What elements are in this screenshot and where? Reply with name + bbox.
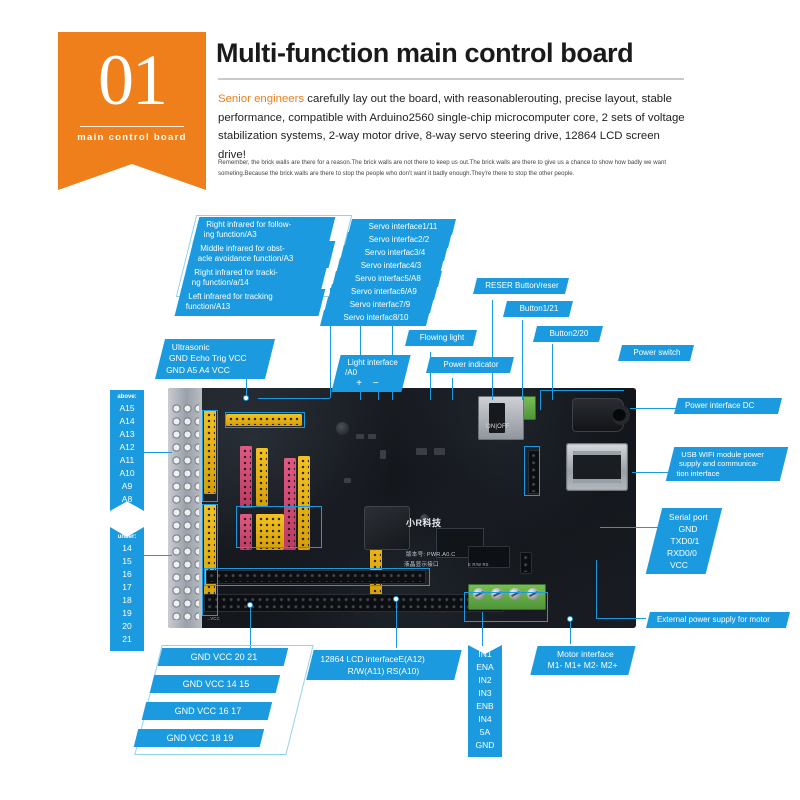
section-subtitle: main control board	[58, 132, 206, 143]
ultrasonic-line2: GND Echo Trig VCC	[169, 353, 263, 365]
leader-extpower-v	[596, 560, 597, 618]
pin-list-under-header: under:	[114, 533, 140, 542]
leader-motor	[570, 622, 571, 644]
pin-above-5: A10	[114, 467, 140, 480]
dc-power-jack	[572, 398, 624, 432]
servo-label-1: Servo interface1/11	[359, 222, 447, 233]
callout-light-interface[interactable]: Light interface /A0 + −	[331, 355, 410, 392]
pin-list-under: under: 14 15 16 17 18 19 20 21	[110, 527, 144, 651]
lcd-line2: R/W(A11) RS(A10)	[318, 665, 450, 677]
leader-button2	[552, 344, 553, 400]
serial-pin-2: RXD0/0	[660, 547, 704, 559]
callout-flowing-light[interactable]: Flowing light	[405, 330, 477, 346]
leader-power-switch-h	[540, 390, 624, 391]
ribbon-divider	[80, 126, 184, 127]
leader-button1	[522, 320, 523, 400]
section-number: 01	[58, 40, 206, 120]
callout-gnd-vcc-18-19[interactable]: GND VCC 18 19	[134, 729, 264, 747]
pin-above-4: A11	[114, 454, 140, 467]
callout-button1[interactable]: Button1/21	[503, 301, 573, 317]
gnd-vcc-label-1: GND VCC 14 15	[161, 678, 271, 690]
leader-dot-motor	[567, 616, 573, 622]
pin-above-6: A9	[114, 480, 140, 493]
pin-under-1: 15	[114, 555, 140, 568]
pin-under-2: 16	[114, 568, 140, 581]
callout-right-infrared-tracking[interactable]: Right infrared for tracki- ng function/a…	[181, 265, 328, 292]
button2-label: Button2/20	[544, 329, 594, 340]
usb-a-port	[566, 443, 628, 491]
silkscreen-vcc: →VCC	[206, 616, 220, 621]
ir0-line2: ing function/A3	[204, 230, 324, 241]
lead-highlight: Senior engineers	[218, 93, 304, 105]
ir1-line2: acle avoidance function/A3	[198, 254, 324, 265]
leader-lcd	[396, 600, 397, 648]
callout-motor-interface[interactable]: Motor interface M1- M1+ M2- M2+	[530, 646, 635, 675]
regulator-module	[364, 506, 410, 550]
external-power-label: External power supply for motor	[657, 615, 781, 626]
highlight-servo-block	[236, 506, 322, 548]
light-line1: Light interface	[348, 358, 402, 369]
pin-under-4: 18	[114, 594, 140, 607]
callout-ultrasonic[interactable]: Ultrasonic GND Echo Trig VCC GND A5 A4 V…	[155, 339, 275, 379]
callout-external-power[interactable]: External power supply for motor	[646, 612, 790, 628]
pin-header-yellow-1	[256, 448, 268, 506]
motor-pin-6: 5A	[472, 726, 498, 739]
pin-under-0: 14	[114, 542, 140, 555]
servo-label-2: Servo interfac2/2	[355, 235, 443, 246]
reset-button-label: RESER Button/reser	[484, 281, 560, 292]
leader-dot-gndvcc	[247, 602, 253, 608]
highlight-top-header	[225, 412, 305, 428]
silkscreen-version: 版本号: PWR.A0.C	[406, 550, 456, 558]
callout-left-infrared-tracking[interactable]: Left infrared for tracking function/A13	[175, 289, 326, 316]
callout-power-interface-dc[interactable]: Power interface DC	[674, 398, 782, 414]
highlight-serial-header	[524, 446, 540, 496]
title-divider	[218, 78, 684, 80]
section-number-ribbon: 01 main control board	[58, 32, 206, 164]
serial-pin-0: GND	[666, 523, 710, 535]
ir3-line2: function/A13	[186, 302, 314, 313]
light-line2: /A0	[345, 368, 399, 379]
motor-pin-2: IN2	[472, 674, 498, 687]
pin-under-6: 20	[114, 620, 140, 633]
ir3-line1: Left infrared for tracking	[188, 292, 316, 303]
motor-line1: Motor interface	[544, 649, 626, 661]
servo-label-6: Servo interfac6/A9	[339, 287, 429, 298]
highlight-digital-bank	[202, 504, 218, 616]
pin-above-1: A14	[114, 415, 140, 428]
pin-above-2: A13	[114, 428, 140, 441]
gnd-vcc-label-2: GND VCC 16 17	[153, 705, 263, 717]
pin-header-pink-1	[240, 446, 252, 508]
motor-pin-5: IN4	[472, 713, 498, 726]
pin-list-above-header: above:	[114, 393, 140, 402]
silkscreen-lcd-pins: E R/W RS	[468, 562, 489, 567]
highlight-motor-terminal	[464, 592, 548, 622]
serial-title: Serial port	[669, 511, 713, 523]
page-header: 01 main control board Multi-function mai…	[0, 0, 800, 210]
lcd-line1: 12864 LCD interfaceE(A12)	[321, 653, 453, 665]
callout-servo-8[interactable]: Servo interfac8/10	[320, 310, 430, 326]
servo-label-4: Servo interfac4/3	[347, 261, 435, 272]
power-switch-label: Power switch	[629, 348, 685, 359]
ir2-line2: ng function/a/14	[192, 278, 316, 289]
flowing-light-label: Flowing light	[416, 333, 468, 344]
highlight-a-bank	[202, 410, 218, 502]
callout-middle-infrared-obstacle[interactable]: Middle infrared for obst- acle avoidance…	[187, 241, 336, 268]
board-brand-logo: 小R科技	[406, 516, 442, 529]
leader-dc	[630, 408, 678, 409]
servo-label-5: Servo interfac5/A8	[343, 274, 433, 285]
gnd-vcc-label-0: GND VCC 20 21	[169, 651, 279, 663]
motor-pin-0: IN1	[472, 648, 498, 661]
motor-pin-1: ENA	[472, 661, 498, 674]
pin-list-above: above: A15 A14 A13 A12 A11 A10 A9 A8	[110, 390, 144, 511]
leader-under-pins	[140, 555, 172, 556]
callout-usb-wifi[interactable]: USB WIFI module power supply and communi…	[666, 447, 788, 481]
leader-dot-ultrasonic	[243, 395, 249, 401]
serial-pin-3: VCC	[657, 559, 701, 571]
pin-list-motor-driver: IN1 ENA IN2 IN3 ENB IN4 5A GND	[468, 645, 502, 757]
pin-above-3: A12	[114, 441, 140, 454]
pin-above-7: A8	[114, 493, 140, 506]
callout-lcd-interface[interactable]: 12864 LCD interfaceE(A12) R/W(A11) RS(A1…	[306, 650, 461, 680]
pin-under-5: 19	[114, 607, 140, 620]
callout-gnd-vcc-16-17[interactable]: GND VCC 16 17	[142, 702, 272, 720]
leader-extpower	[596, 618, 646, 619]
silkscreen-onoff: ON|OFF	[486, 424, 510, 430]
motor-line2: M1- M1+ M2- M2+	[542, 660, 624, 672]
ir0-line1: Right infrared for follow-	[206, 220, 326, 231]
light-line3: + −	[342, 379, 396, 390]
highlight-lcd-header	[204, 568, 430, 586]
callout-button2[interactable]: Button2/20	[533, 326, 603, 342]
gnd-vcc-label-3: GND VCC 18 19	[145, 732, 255, 744]
leader-serial	[600, 527, 660, 528]
perforation-holes	[171, 402, 199, 620]
pin-under-7: 21	[114, 633, 140, 646]
callout-power-switch[interactable]: Power switch	[618, 345, 694, 361]
callout-power-indicator[interactable]: Power indicator	[426, 357, 514, 373]
power-switch-component	[478, 396, 524, 440]
pin-above-0: A15	[114, 402, 140, 415]
servo-label-7: Servo interfac7/9	[335, 300, 425, 311]
ir2-line1: Right infrared for tracki-	[194, 268, 318, 279]
page-title: Multi-function main control board	[216, 38, 633, 69]
callout-gnd-vcc-14-15[interactable]: GND VCC 14 15	[150, 675, 280, 693]
leader-usb	[632, 472, 672, 473]
motor-pin-7: GND	[472, 739, 498, 752]
board-left-shield	[168, 388, 202, 628]
usb-line3: tion interface	[677, 469, 775, 479]
power-indicator-label: Power indicator	[437, 360, 505, 371]
external-power-header	[520, 552, 532, 574]
ultrasonic-line3: GND A5 A4 VCC	[166, 365, 260, 377]
leader-power-indicator	[452, 378, 453, 400]
leader-infrared-h	[258, 398, 330, 399]
leader-power-switch-v	[540, 390, 541, 410]
pin-under-3: 17	[114, 581, 140, 594]
motor-pin-4: ENB	[472, 700, 498, 713]
serial-pin-1: TXD0/1	[663, 535, 707, 547]
motor-pin-3: IN3	[472, 687, 498, 700]
callout-gnd-vcc-20-21[interactable]: GND VCC 20 21	[158, 648, 288, 666]
dc-label: Power interface DC	[685, 401, 773, 412]
leader-reset	[492, 300, 493, 400]
callout-serial-port[interactable]: Serial port GND TXD0/1 RXD0/0 VCC	[646, 508, 722, 574]
fine-print-paragraph: Remember, the brick walls are there for …	[218, 158, 688, 179]
usb-line1: USB WIFI module power	[681, 450, 779, 460]
leader-dot-lcd	[393, 596, 399, 602]
callout-right-infrared-following[interactable]: Right infrared for follow- ing function/…	[193, 217, 336, 244]
servo-label-8: Servo interfac8/10	[331, 313, 421, 324]
callout-reset-button[interactable]: RESER Button/reser	[473, 278, 569, 294]
leader-above-pins	[140, 452, 172, 453]
servo-label-3: Servo interfac3/4	[351, 248, 439, 259]
lead-paragraph: Senior engineers carefully lay out the b…	[218, 90, 688, 164]
ultrasonic-line1: Ultrasonic	[172, 342, 266, 354]
button1-label: Button1/21	[514, 304, 564, 315]
ir1-line1: Middle infrared for obst-	[200, 244, 326, 255]
usb-line2: supply and communica-	[679, 459, 777, 469]
silkscreen-lcd-port: 液晶显示接口	[404, 560, 439, 568]
